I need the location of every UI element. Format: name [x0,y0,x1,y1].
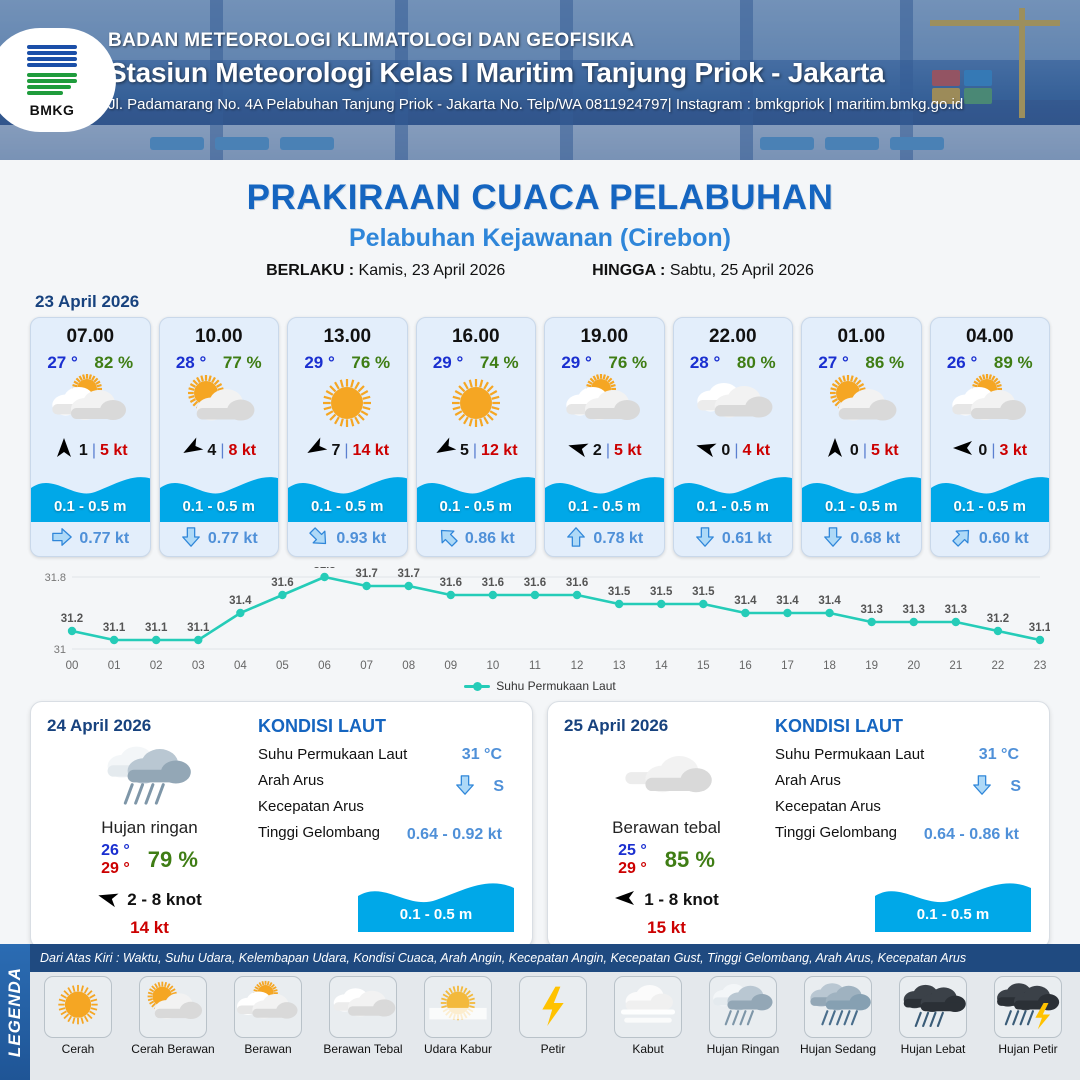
current-direction-arrow-icon [565,526,587,553]
sst-value: 31 °C [462,746,502,764]
card-time: 07.00 [31,318,150,348]
legend-note: Dari Atas Kiri : Waktu, Suhu Udara, Kele… [30,944,1080,972]
weather-mostly-sunny-icon [160,373,279,435]
wind-direction-value: 0 [721,442,730,460]
svg-text:31.6: 31.6 [271,577,293,589]
current-speed-label: Kecepatan Arus [258,798,516,815]
card-wind: 7 | 14 kt [288,435,407,470]
svg-text:21: 21 [949,660,962,672]
current-direction-arrow-icon [951,526,973,553]
svg-text:31.4: 31.4 [818,595,841,607]
current-speed-value: 0.64 - 0.86 kt [924,826,1019,844]
svg-text:10: 10 [486,660,499,672]
card-current: 0.77 kt [31,522,150,556]
weather-cloudy-icon [564,738,769,816]
legend-item-label: Berawan [244,1042,291,1056]
legend-bar: LEGENDA Dari Atas Kiri : Waktu, Suhu Uda… [0,944,1080,1080]
svg-text:15: 15 [697,660,710,672]
legend-strip-label: LEGENDA [5,967,25,1057]
wind-direction-arrow-icon [305,437,327,464]
legend-items: Cerah Cerah Berawan Berawan Berawan Teba… [32,976,1074,1056]
current-direction-arrow-icon [971,774,993,801]
card-temp-humidity: 29 ° 76 % [545,348,664,373]
svg-text:31.8: 31.8 [45,572,66,584]
separator: | [92,442,96,460]
card-current: 0.60 kt [931,522,1050,556]
wind-direction-arrow-icon [614,887,636,914]
current-direction-arrow-icon [51,526,73,553]
current-direction-arrow-icon [822,526,844,553]
sst-value: 31 °C [979,746,1019,764]
current-speed-label: Kecepatan Arus [775,798,1033,815]
wind-direction-value: 0 [850,442,859,460]
svg-text:08: 08 [402,660,415,672]
wind-direction-arrow-icon [695,437,717,464]
card-wave: 0.1 - 0.5 m [31,470,150,522]
svg-text:17: 17 [781,660,794,672]
current-speed: 0.61 kt [722,530,772,548]
current-direction-value: S [493,778,504,796]
current-speed: 0.77 kt [79,530,129,548]
weather-partly-cloudy-icon [234,976,302,1038]
valid-value: Kamis, 23 April 2026 [359,262,506,279]
card-current: 0.77 kt [160,522,279,556]
card-temp-humidity: 27 ° 86 % [802,348,921,373]
svg-text:09: 09 [444,660,457,672]
daily-temp-max: 29 ° [101,860,130,877]
svg-text:31.7: 31.7 [398,568,420,580]
legend-item: Kabut [602,976,694,1056]
current-speed: 0.86 kt [465,530,515,548]
card-humidity: 76 % [351,353,390,373]
card-temp-humidity: 26 ° 89 % [931,348,1050,373]
legend-item: Cerah [32,976,124,1056]
daily-condition: Berawan tebal [564,818,769,838]
current-direction-label: Arah Arus [775,772,1033,789]
legend-item: Berawan Tebal [317,976,409,1056]
separator: | [863,442,867,460]
agency-name: BADAN METEOROLOGI KLIMATOLOGI DAN GEOFIS… [108,30,963,52]
card-wave: 0.1 - 0.5 m [545,470,664,522]
current-direction-arrow-icon [437,526,459,553]
card-time: 01.00 [802,318,921,348]
svg-text:31.1: 31.1 [1029,622,1050,634]
svg-text:16: 16 [739,660,752,672]
card-time: 22.00 [674,318,793,348]
daily-temp-min: 26 ° [101,842,130,859]
legend-item-label: Hujan Petir [998,1042,1057,1056]
legend-item-label: Udara Kabur [424,1042,492,1056]
legend-item-label: Hujan Lebat [901,1042,966,1056]
svg-text:01: 01 [108,660,121,672]
svg-text:31.2: 31.2 [61,613,83,625]
weather-cloudy-icon [674,373,793,435]
card-humidity: 80 % [737,353,776,373]
svg-text:02: 02 [150,660,163,672]
card-wind: 0 | 3 kt [931,435,1050,470]
wave-shape-icon [358,874,514,932]
daily-temps: 25 ° 29 ° 85 % [564,842,769,879]
daily-temp-max: 29 ° [618,860,647,877]
legend-item-label: Cerah [62,1042,95,1056]
sea-section-title: KONDISI LAUT [258,716,516,737]
logo-text: BMKG [30,102,75,118]
wave-height: 0.1 - 0.5 m [931,498,1050,515]
card-current: 0.78 kt [545,522,664,556]
legend-item-label: Petir [541,1042,566,1056]
card-time: 16.00 [417,318,536,348]
sst-chart-svg: 3131.831.20031.10131.10231.10331.40431.6… [30,567,1050,677]
card-temperature: 28 ° [690,353,720,373]
wind-speed: 8 kt [228,442,256,460]
card-temperature: 26 ° [947,353,977,373]
card-temperature: 29 ° [304,353,334,373]
legend-item: Cerah Berawan [127,976,219,1056]
svg-text:22: 22 [992,660,1005,672]
card-temp-humidity: 28 ° 80 % [674,348,793,373]
wind-direction-arrow-icon [952,437,974,464]
wind-direction-arrow-icon [53,437,75,464]
svg-text:00: 00 [66,660,79,672]
weather-mostly-sunny-icon [802,373,921,435]
legend-item-label: Cerah Berawan [131,1042,214,1056]
bmkg-logo: BMKG [0,28,116,132]
svg-text:20: 20 [907,660,920,672]
card-wind: 4 | 8 kt [160,435,279,470]
card-temperature: 28 ° [176,353,206,373]
wave-height: 0.1 - 0.5 m [160,498,279,515]
svg-text:05: 05 [276,660,289,672]
card-temperature: 27 ° [47,353,77,373]
sst-chart: 3131.831.20031.10131.10231.10331.40431.6… [30,567,1050,677]
weather-moderate-rain-icon [804,976,872,1038]
wind-speed: 5 kt [614,442,642,460]
current-direction-arrow-icon [694,526,716,553]
weather-light-rain-icon [47,738,252,816]
station-address: Jl. Padamarang No. 4A Pelabuhan Tanjung … [108,96,963,113]
hourly-card: 22.00 28 ° 80 % 0 | 4 kt 0.1 - 0.5 m [673,317,794,557]
current-direction-arrow-icon [180,526,202,553]
hourly-card: 13.00 29 ° 76 % 7 | 14 kt 0.1 - 0.5 m 0.… [287,317,408,557]
wind-direction-value: 2 [593,442,602,460]
daily-humidity: 79 % [148,847,198,873]
wave-height: 0.1 - 0.5 m [545,498,664,515]
chart-legend: Suhu Permukaan Laut [0,679,1080,693]
card-wave: 0.1 - 0.5 m [160,470,279,522]
current-speed: 0.93 kt [336,530,386,548]
separator: | [606,442,610,460]
svg-text:31.1: 31.1 [103,622,126,634]
legend-item-label: Hujan Ringan [707,1042,780,1056]
daily-wave-value: 0.1 - 0.5 m [875,906,1031,923]
wind-direction-value: 4 [207,442,216,460]
card-wave: 0.1 - 0.5 m [417,470,536,522]
wind-direction-arrow-icon [434,437,456,464]
daily-forecast-row: 24 April 2026 Hujan ringan 26 ° 29 ° 79 … [0,693,1080,949]
legend-item: Hujan Lebat [887,976,979,1056]
daily-wave-box: 0.1 - 0.5 m [358,874,514,932]
daily-wind: 2 - 8 knot [47,887,252,914]
legend-item: Hujan Petir [982,976,1074,1056]
svg-text:12: 12 [571,660,584,672]
legend-strip: LEGENDA [0,944,30,1080]
svg-text:31.6: 31.6 [440,577,462,589]
wind-direction-value: 7 [331,442,340,460]
svg-text:31: 31 [54,644,66,656]
card-humidity: 82 % [94,353,133,373]
card-time: 19.00 [545,318,664,348]
station-name: Stasiun Meteorologi Kelas I Maritim Tanj… [108,57,963,89]
card-wind: 2 | 5 kt [545,435,664,470]
card-time: 04.00 [931,318,1050,348]
current-speed-value: 0.64 - 0.92 kt [407,826,502,844]
card-temp-humidity: 27 ° 82 % [31,348,150,373]
svg-text:04: 04 [234,660,247,672]
hourly-forecast-row: 07.00 27 ° 82 % 1 | 5 kt 0.1 - 0.5 m [0,317,1080,557]
card-wave: 0.1 - 0.5 m [288,470,407,522]
daily-forecast-card: 25 April 2026 Berawan tebal 25 ° 29 ° 85… [547,701,1050,949]
wave-shape-icon [875,874,1031,932]
card-temperature: 29 ° [561,353,591,373]
weather-sunny-icon [288,373,407,435]
daily-condition: Hujan ringan [47,818,252,838]
svg-text:31.6: 31.6 [566,577,588,589]
legend-item: Hujan Ringan [697,976,789,1056]
card-temperature: 27 ° [818,353,848,373]
daily-wind: 1 - 8 knot [564,887,769,914]
daily-gust: 14 kt [47,918,252,938]
card-wind: 0 | 4 kt [674,435,793,470]
legend-line-icon [464,685,490,688]
card-temp-humidity: 29 ° 76 % [288,348,407,373]
svg-text:31.3: 31.3 [860,604,882,616]
card-time: 13.00 [288,318,407,348]
wave-height: 0.1 - 0.5 m [674,498,793,515]
svg-text:31.5: 31.5 [692,586,715,598]
daily-left: 25 April 2026 Berawan tebal 25 ° 29 ° 85… [564,716,769,934]
separator: | [473,442,477,460]
card-wind: 0 | 5 kt [802,435,921,470]
bmkg-emblem-icon [21,43,83,101]
wave-height: 0.1 - 0.5 m [417,498,536,515]
svg-text:31.1: 31.1 [187,622,210,634]
weather-mostly-sunny-icon [139,976,207,1038]
hourly-card: 07.00 27 ° 82 % 1 | 5 kt 0.1 - 0.5 m [30,317,151,557]
card-wind: 1 | 5 kt [31,435,150,470]
weather-lightning-icon [519,976,587,1038]
legend-item: Udara Kabur [412,976,504,1056]
card-current: 0.86 kt [417,522,536,556]
svg-text:23: 23 [1034,660,1047,672]
wind-speed: 14 kt [353,442,389,460]
current-direction-arrow-icon [454,774,476,801]
svg-text:06: 06 [318,660,331,672]
svg-text:18: 18 [823,660,836,672]
daily-wind-range: 1 - 8 knot [644,890,719,910]
wind-direction-arrow-icon [97,887,119,914]
wind-speed: 3 kt [999,442,1027,460]
weather-cloudy-icon [329,976,397,1038]
wind-direction-arrow-icon [567,437,589,464]
legend-item-label: Berawan Tebal [323,1042,402,1056]
daily-wind-range: 2 - 8 knot [127,890,202,910]
valid-label: BERLAKU : [266,262,354,279]
wind-speed: 4 kt [742,442,770,460]
svg-text:14: 14 [655,660,668,672]
weather-thunderstorm-icon [994,976,1062,1038]
current-direction-arrow-icon [308,526,330,553]
current-speed: 0.68 kt [850,530,900,548]
legend-item: Berawan [222,976,314,1056]
separator: | [734,442,738,460]
card-humidity: 76 % [608,353,647,373]
card-wave: 0.1 - 0.5 m [931,470,1050,522]
svg-text:31.5: 31.5 [608,586,631,598]
hourly-card: 10.00 28 ° 77 % 4 | 8 kt 0.1 - 0.5 m 0.7… [159,317,280,557]
card-current: 0.93 kt [288,522,407,556]
hourly-card: 04.00 26 ° 89 % 0 | 3 kt 0.1 - 0.5 m [930,317,1051,557]
svg-text:31.3: 31.3 [945,604,967,616]
separator: | [991,442,995,460]
legend-label: Suhu Permukaan Laut [496,679,615,693]
daily-temp-range: 26 ° 29 ° [101,842,130,879]
card-humidity: 86 % [865,353,904,373]
daily-humidity: 85 % [665,847,715,873]
validity-line: BERLAKU : Kamis, 23 April 2026 HINGGA : … [0,262,1080,280]
separator: | [220,442,224,460]
until-value: Sabtu, 25 April 2026 [670,262,814,279]
weather-partly-cloudy-icon [931,373,1050,435]
wind-direction-value: 0 [978,442,987,460]
daily-temp-min: 25 ° [618,842,647,859]
current-speed: 0.78 kt [593,530,643,548]
daily-wave-value: 0.1 - 0.5 m [358,906,514,923]
wave-height: 0.1 - 0.5 m [288,498,407,515]
card-temperature: 29 ° [433,353,463,373]
svg-text:03: 03 [192,660,205,672]
svg-text:31.8: 31.8 [313,567,336,571]
wind-speed: 12 kt [481,442,517,460]
until-label: HINGGA : [592,262,665,279]
hourly-card: 16.00 29 ° 74 % 5 | 12 kt 0.1 - 0.5 m 0.… [416,317,537,557]
svg-text:31.3: 31.3 [903,604,925,616]
card-current: 0.61 kt [674,522,793,556]
card-temp-humidity: 29 ° 74 % [417,348,536,373]
svg-text:31.4: 31.4 [776,595,799,607]
wind-direction-value: 5 [460,442,469,460]
page-subtitle: Pelabuhan Kejawanan (Cirebon) [0,224,1080,253]
card-humidity: 77 % [223,353,262,373]
wave-height: 0.1 - 0.5 m [31,498,150,515]
hourly-card: 19.00 29 ° 76 % 2 | 5 kt 0.1 - 0.5 m [544,317,665,557]
weather-sunny-icon [44,976,112,1038]
daily-temp-range: 25 ° 29 ° [618,842,647,879]
weather-fog-icon [614,976,682,1038]
svg-text:19: 19 [865,660,878,672]
card-current: 0.68 kt [802,522,921,556]
header-text-block: BADAN METEOROLOGI KLIMATOLOGI DAN GEOFIS… [108,30,963,113]
hourly-date-label: 23 April 2026 [35,292,1080,312]
legend-item-label: Kabut [632,1042,663,1056]
svg-text:31.4: 31.4 [734,595,757,607]
svg-text:31.4: 31.4 [229,595,252,607]
svg-text:31.2: 31.2 [987,613,1009,625]
svg-text:31.1: 31.1 [145,622,168,634]
wind-speed: 5 kt [100,442,128,460]
daily-sea-conditions: KONDISI LAUT Suhu Permukaan Laut 31 °C A… [252,716,516,934]
daily-date: 24 April 2026 [47,716,252,736]
weather-partly-cloudy-icon [31,373,150,435]
current-direction-value: S [1010,778,1021,796]
wind-direction-value: 1 [79,442,88,460]
card-humidity: 74 % [480,353,519,373]
card-temp-humidity: 28 ° 77 % [160,348,279,373]
daily-left: 24 April 2026 Hujan ringan 26 ° 29 ° 79 … [47,716,252,934]
svg-text:31.6: 31.6 [482,577,504,589]
page-header: BMKG BADAN METEOROLOGI KLIMATOLOGI DAN G… [0,0,1080,160]
wind-direction-arrow-icon [824,437,846,464]
sea-section-title: KONDISI LAUT [775,716,1033,737]
current-speed: 0.77 kt [208,530,258,548]
legend-item: Hujan Sedang [792,976,884,1056]
wave-height: 0.1 - 0.5 m [802,498,921,515]
separator: | [344,442,348,460]
daily-date: 25 April 2026 [564,716,769,736]
svg-text:31.7: 31.7 [355,568,377,580]
daily-gust: 15 kt [564,918,769,938]
daily-forecast-card: 24 April 2026 Hujan ringan 26 ° 29 ° 79 … [30,701,533,949]
card-wave: 0.1 - 0.5 m [802,470,921,522]
weather-haze-icon [424,976,492,1038]
weather-sunny-icon [417,373,536,435]
legend-item-label: Hujan Sedang [800,1042,876,1056]
card-wind: 5 | 12 kt [417,435,536,470]
hourly-card: 01.00 27 ° 86 % 0 | 5 kt 0.1 - 0.5 m 0.6… [801,317,922,557]
card-time: 10.00 [160,318,279,348]
daily-wave-box: 0.1 - 0.5 m [875,874,1031,932]
svg-text:13: 13 [613,660,626,672]
svg-text:31.5: 31.5 [650,586,673,598]
weather-light-rain-icon [709,976,777,1038]
title-block: PRAKIRAAN CUACA PELABUHAN Pelabuhan Keja… [0,160,1080,280]
svg-text:31.6: 31.6 [524,577,546,589]
wind-speed: 5 kt [871,442,899,460]
svg-text:07: 07 [360,660,373,672]
daily-temps: 26 ° 29 ° 79 % [47,842,252,879]
svg-text:11: 11 [529,660,541,672]
legend-item: Petir [507,976,599,1056]
card-humidity: 89 % [994,353,1033,373]
current-speed: 0.60 kt [979,530,1029,548]
card-wave: 0.1 - 0.5 m [674,470,793,522]
current-direction-label: Arah Arus [258,772,516,789]
daily-sea-conditions: KONDISI LAUT Suhu Permukaan Laut 31 °C A… [769,716,1033,934]
page-title: PRAKIRAAN CUACA PELABUHAN [0,178,1080,218]
weather-heavy-rain-icon [899,976,967,1038]
wind-direction-arrow-icon [181,437,203,464]
weather-partly-cloudy-icon [545,373,664,435]
